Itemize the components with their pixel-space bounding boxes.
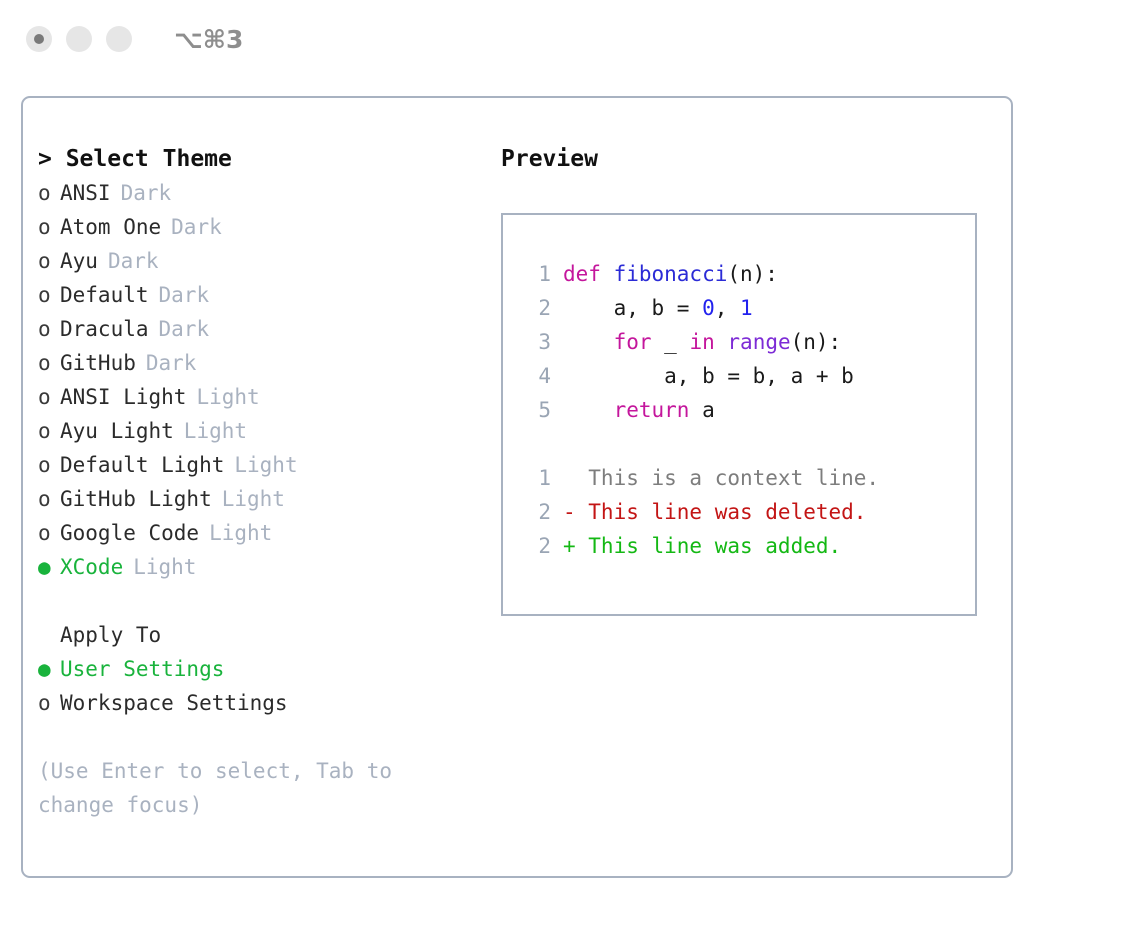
option-variant-tag: Dark [121,176,172,210]
code-line: 2 a, b = 0, 1 [521,291,879,325]
diff-text: + This line was added. [563,529,841,563]
option-label: User Settings [60,652,224,686]
line-number: 1 [521,257,551,291]
radio-unselected-icon: o [38,210,60,244]
option-row[interactable]: oANSIDark [38,176,488,210]
code-diff-separator [521,427,879,461]
radio-unselected-icon: o [38,516,60,550]
option-variant-tag: Dark [159,278,210,312]
code-token: in [689,330,714,354]
option-row[interactable]: oANSI LightLight [38,380,488,414]
option-label: Google Code [60,516,199,550]
preview-header: Preview [501,142,1001,176]
radio-unselected-icon: o [38,312,60,346]
line-number: 5 [521,393,551,427]
select-theme-header: > Select Theme [38,142,488,176]
option-row[interactable]: oWorkspace Settings [38,686,488,720]
code-text: a, b = 0, 1 [563,291,753,325]
diff-text: This is a context line. [563,461,879,495]
theme-list-panel: > Select Theme oANSIDarkoAtom OneDarkoAy… [38,142,488,822]
window-dot-second-icon[interactable] [66,26,92,52]
option-label: Ayu [60,244,98,278]
option-row[interactable]: oAyuDark [38,244,488,278]
code-line: 3 for _ in range(n): [521,325,879,359]
option-variant-tag: Light [222,482,285,516]
code-token: a, b = b, a + b [563,364,854,388]
code-token: (n): [727,262,778,286]
option-row[interactable]: oDraculaDark [38,312,488,346]
code-text: for _ in range(n): [563,325,841,359]
option-label: ANSI [60,176,111,210]
code-token: _ [652,330,690,354]
apply-to-option-list[interactable]: ●User SettingsoWorkspace Settings [38,652,488,720]
option-row[interactable]: oDefaultDark [38,278,488,312]
window-dot-core [34,34,44,44]
option-label: XCode [60,550,123,584]
radio-unselected-icon: o [38,380,60,414]
code-token: 0 [702,296,715,320]
option-row[interactable]: oDefault LightLight [38,448,488,482]
option-variant-tag: Light [184,414,247,448]
option-label: ANSI Light [60,380,186,414]
radio-selected-icon: ● [38,550,60,584]
line-number: 2 [521,529,551,563]
option-row[interactable]: oAtom OneDark [38,210,488,244]
radio-unselected-icon: o [38,176,60,210]
option-variant-tag: Light [234,448,297,482]
option-label: GitHub [60,346,136,380]
option-row[interactable]: ●User Settings [38,652,488,686]
option-variant-tag: Light [133,550,196,584]
code-token: fibonacci [614,262,728,286]
apply-to-header: Apply To [38,618,488,652]
title-bar: ⌥⌘3 [0,0,1140,78]
option-row[interactable]: oAyu LightLight [38,414,488,448]
option-label: Default Light [60,448,224,482]
option-variant-tag: Dark [159,312,210,346]
diff-text: - This line was deleted. [563,495,866,529]
option-variant-tag: Dark [108,244,159,278]
code-token: a, b = [563,296,702,320]
option-row[interactable]: oGitHub LightLight [38,482,488,516]
option-label: Workspace Settings [60,686,288,720]
radio-selected-icon: ● [38,652,60,686]
code-token: , [715,296,740,320]
code-line: 5 return a [521,393,879,427]
window-dot-third-icon[interactable] [106,26,132,52]
code-line: 1def fibonacci(n): [521,257,879,291]
code-token: return [614,398,690,422]
line-number: 2 [521,291,551,325]
radio-unselected-icon: o [38,448,60,482]
radio-unselected-icon: o [38,686,60,720]
window-controls [26,26,132,52]
option-row[interactable]: ●XCodeLight [38,550,488,584]
option-label: GitHub Light [60,482,212,516]
option-variant-tag: Light [196,380,259,414]
option-label: Ayu Light [60,414,174,448]
radio-unselected-icon: o [38,244,60,278]
theme-option-list[interactable]: oANSIDarkoAtom OneDarkoAyuDarkoDefaultDa… [38,176,488,584]
code-token: for [614,330,652,354]
option-row[interactable]: oGoogle CodeLight [38,516,488,550]
code-line: 4 a, b = b, a + b [521,359,879,393]
code-token: def [563,262,614,286]
keyboard-shortcut-label: ⌥⌘3 [174,25,243,54]
radio-unselected-icon: o [38,278,60,312]
line-number: 1 [521,461,551,495]
line-number: 3 [521,325,551,359]
code-token: (n): [791,330,842,354]
radio-unselected-icon: o [38,482,60,516]
radio-unselected-icon: o [38,346,60,380]
option-variant-tag: Dark [171,210,222,244]
preview-code: 1def fibonacci(n):2 a, b = 0, 13 for _ i… [521,257,879,563]
code-token [715,330,728,354]
code-token: range [727,330,790,354]
code-token [563,398,614,422]
option-row[interactable]: oGitHubDark [38,346,488,380]
diff-line: 2- This line was deleted. [521,495,879,529]
code-text: return a [563,393,715,427]
option-label: Dracula [60,312,149,346]
preview-box: 1def fibonacci(n):2 a, b = 0, 13 for _ i… [501,213,977,616]
app-window: ⌥⌘3 > Select Theme oANSIDarkoAtom OneDar… [0,0,1140,934]
diff-line: 1 This is a context line. [521,461,879,495]
code-text: a, b = b, a + b [563,359,854,393]
line-number: 4 [521,359,551,393]
diff-line: 2+ This line was added. [521,529,879,563]
code-text: def fibonacci(n): [563,257,778,291]
option-label: Atom One [60,210,161,244]
code-token: 1 [740,296,753,320]
keyboard-hint-text: (Use Enter to select, Tab to change focu… [38,754,448,822]
radio-unselected-icon: o [38,414,60,448]
option-variant-tag: Dark [146,346,197,380]
code-token [563,330,614,354]
line-number: 2 [521,495,551,529]
code-token: a [689,398,714,422]
window-dot-active-icon[interactable] [26,26,52,52]
preview-panel: Preview 1def fibonacci(n):2 a, b = 0, 13… [501,142,1001,616]
theme-picker-dialog: > Select Theme oANSIDarkoAtom OneDarkoAy… [21,96,1013,878]
option-label: Default [60,278,149,312]
option-variant-tag: Light [209,516,272,550]
